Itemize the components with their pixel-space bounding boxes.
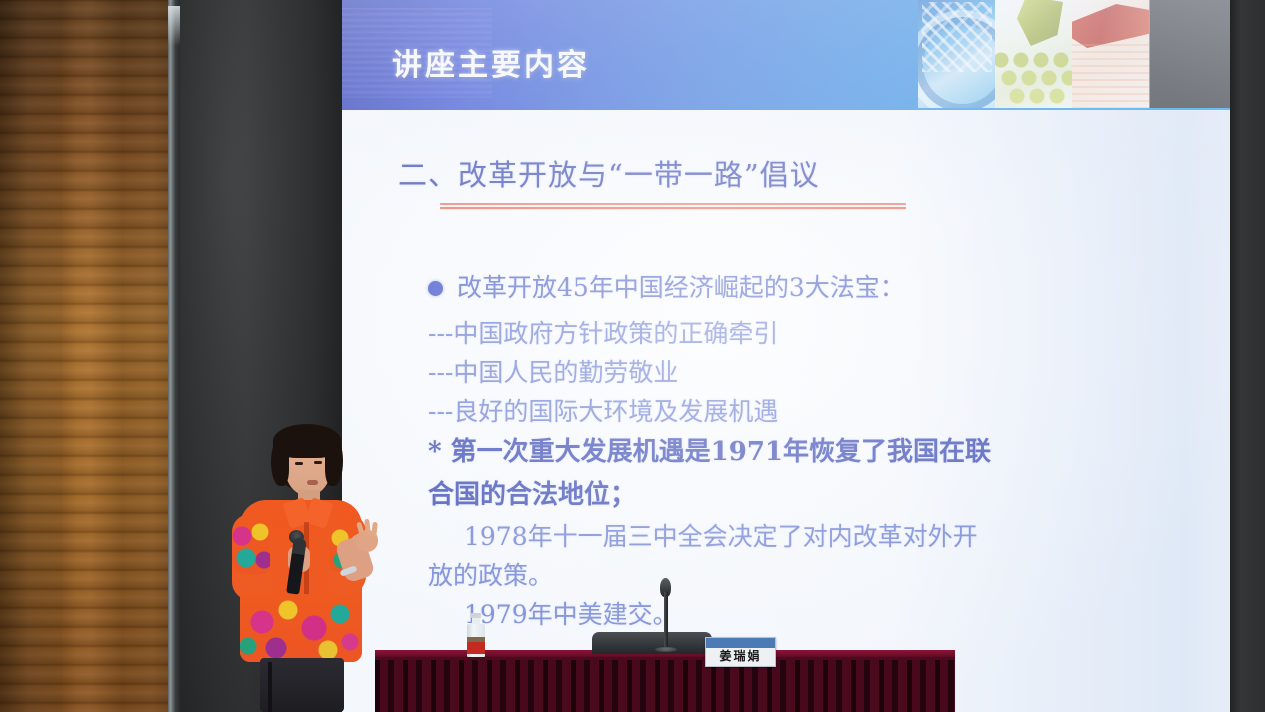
slide-sub-line-3: ---良好的国际大环境及发展机遇 bbox=[428, 392, 1168, 431]
floral-pattern-hem bbox=[240, 594, 362, 662]
blue-compass-technical-icon bbox=[918, 0, 995, 108]
slide-sub-line-2: ---中国人民的勤劳敬业 bbox=[428, 353, 1168, 392]
finger-2 bbox=[364, 519, 371, 535]
slide-emphasis-line-2: 合国的合法地位； bbox=[428, 474, 1168, 517]
left-eye bbox=[295, 462, 303, 465]
slide-sub-line-1: ---中国政府方针政策的正确牵引 bbox=[428, 314, 1168, 353]
desk-microphone-base bbox=[655, 647, 677, 652]
slide-title: 讲座主要内容 bbox=[392, 40, 590, 84]
slide-closing-line-3: 1979年中美建交。 bbox=[428, 595, 1168, 634]
slide-bullet-row: 改革开放45年中国经济崛起的3大法宝： bbox=[428, 268, 1168, 314]
floral-pattern-sleeve-left bbox=[232, 522, 270, 574]
closed-laptop bbox=[592, 632, 712, 654]
hair-left-side bbox=[271, 438, 289, 486]
velvet-draped-table bbox=[375, 650, 955, 712]
wood-wall-shading bbox=[0, 0, 170, 712]
bottle-label bbox=[467, 637, 485, 654]
filled-circle-bullet-icon bbox=[428, 281, 443, 296]
gooseneck-microphone bbox=[655, 578, 677, 652]
slide-body: 改革开放45年中国经济崛起的3大法宝： ---中国政府方针政策的正确牵引 ---… bbox=[428, 268, 1168, 634]
right-hand-gesturing bbox=[354, 522, 380, 552]
nameplate: 姜瑞娟 bbox=[705, 637, 776, 667]
hair-right-side bbox=[325, 436, 343, 486]
projection-screen: 讲座主要内容 二、改革开放与“一带一路”倡议 改革开放45年中国经济崛起的3大法… bbox=[342, 0, 1230, 712]
slide-closing-line-1: 1978年十一届三中全会决定了对内改革对外开 bbox=[428, 517, 1168, 556]
slide-section-heading: 二、改革开放与“一带一路”倡议 bbox=[398, 152, 820, 194]
nameplate-text: 姜瑞娟 bbox=[719, 647, 761, 666]
trousers bbox=[260, 658, 344, 712]
slide-header-decorative-images bbox=[918, 0, 1150, 108]
slide-header-right-edge bbox=[1150, 0, 1230, 108]
lecture-photo: 讲座主要内容 二、改革开放与“一带一路”倡议 改革开放45年中国经济崛起的3大法… bbox=[0, 0, 1265, 712]
slide-emphasis-line-1: * 第一次重大发展机遇是1971年恢复了我国在联 bbox=[428, 431, 1168, 474]
right-eye bbox=[314, 461, 322, 464]
mouth bbox=[307, 480, 318, 485]
slide-closing-line-2: 放的政策。 bbox=[428, 556, 1168, 595]
slide-heading-underline bbox=[440, 203, 906, 210]
water-bottle bbox=[467, 613, 485, 657]
speaker-person bbox=[228, 418, 378, 712]
slide-bullet-text: 改革开放45年中国经济崛起的3大法宝： bbox=[457, 268, 905, 307]
red-orange-abstract-icon bbox=[1072, 0, 1149, 108]
desk-microphone-pole bbox=[664, 592, 668, 648]
table-skirt-folds bbox=[375, 660, 955, 712]
trouser-leg-split bbox=[268, 662, 272, 712]
green-abstract-pods-icon bbox=[995, 0, 1072, 108]
slide-title-bar: 讲座主要内容 bbox=[342, 0, 1230, 110]
right-dark-wall bbox=[1228, 0, 1265, 712]
